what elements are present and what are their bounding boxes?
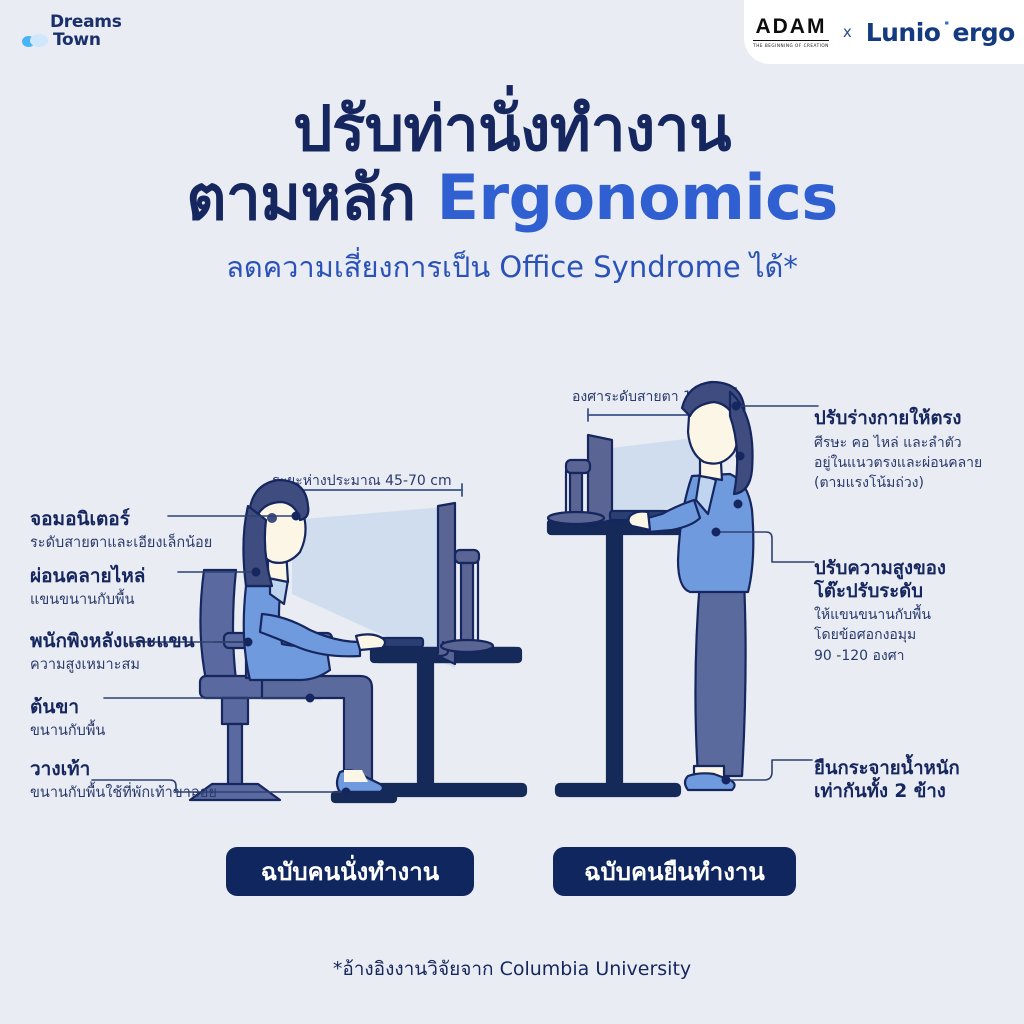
title-line-2-prefix: ตามหลัก — [186, 161, 436, 234]
desk-seated — [366, 648, 526, 796]
label-desk-height-desc: ให้แขนขนานกับพื้น โดยข้อศอกงอมุม 90 -120… — [814, 605, 1019, 666]
standing-person — [628, 382, 753, 790]
label-desk-height-desc-line-2: โดยข้อศอกงอมุม — [814, 625, 1019, 645]
adam-tagline: THE BEGINNING OF CREATION — [753, 40, 829, 48]
label-desk-height-desc-line-3: 90 -120 องศา — [814, 646, 1019, 666]
footrest — [332, 792, 396, 802]
partner-separator-icon: x — [843, 23, 852, 41]
label-monitor-title: จอมอนิเตอร์ — [30, 508, 212, 531]
standing-scene — [548, 382, 753, 796]
title-subtitle: ลดความเสี่ยงการเป็น Office Syndrome ได้* — [0, 244, 1024, 290]
label-feet-title: วางเท้า — [30, 758, 217, 781]
label-backrest-desc: ความสูงเหมาะสม — [30, 655, 195, 676]
footnote-reference: *อ้างอิงงานวิจัยจาก Columbia University — [0, 954, 1024, 984]
label-body-desc-line-1: ศีรษะ คอ ไหล่ และลำตัว — [814, 433, 1014, 453]
lunio-ergo-logo: Lunio˙ergo — [866, 20, 1015, 45]
pill-sitting-version[interactable]: ฉบับคนนั่งทำงาน — [226, 847, 474, 896]
label-weight-title: ยืนกระจายน้ำหนัก เท่ากันทั้ง 2 ข้าง — [814, 758, 1019, 803]
page-title: ปรับท่านั่งทำงาน ตามหลัก Ergonomics ลดคว… — [0, 96, 1024, 290]
dreams-town-logo: Dreams Town — [22, 14, 152, 50]
monitor-standing — [548, 435, 612, 526]
lunio-wordmark: Lunio — [866, 18, 941, 47]
lunio-dot-icon: ˙ — [940, 18, 952, 47]
title-line-2: ตามหลัก Ergonomics — [0, 163, 1024, 232]
label-body-desc-line-3: (ตามแรงโน้มถ่วง) — [814, 473, 1014, 493]
label-desk-height: ปรับความสูงของ โต๊ะปรับระดับ ให้แขนขนานก… — [814, 558, 1019, 666]
standing-desk — [548, 520, 696, 796]
label-monitor-desc: ระดับสายตาและเอียงเล็กน้อย — [30, 533, 212, 554]
label-desk-height-title-line-2: โต๊ะปรับระดับ — [814, 581, 1019, 604]
ergo-wordmark: ergo — [952, 18, 1014, 47]
label-monitor: จอมอนิเตอร์ ระดับสายตาและเอียงเล็กน้อย — [30, 508, 212, 554]
adam-wordmark: ADAM — [755, 16, 826, 37]
label-feet-desc: ขนานกับพื้นใช้ที่พักเท้าขาลอย — [30, 783, 217, 804]
adam-logo: ADAM THE BEGINNING OF CREATION — [753, 16, 829, 48]
label-body-alignment: ปรับร่างกายให้ตรง ศีรษะ คอ ไหล่ และลำตัว… — [814, 408, 1014, 493]
seated-scene — [190, 480, 526, 802]
cloud-icon — [22, 34, 48, 47]
dreams-town-line2: Town — [53, 32, 101, 50]
label-desk-height-title-line-1: ปรับความสูงของ — [814, 558, 1019, 581]
pill-standing-version[interactable]: ฉบับคนยืนทำงาน — [553, 847, 796, 896]
infographic-canvas: Dreams Town ADAM THE BEGINNING OF CREATI… — [0, 0, 1024, 1024]
label-thigh-title: ต้นขา — [30, 696, 105, 719]
label-body-desc: ศีรษะ คอ ไหล่ และลำตัว อยู่ในแนวตรงและผ่… — [814, 433, 1014, 494]
label-shoulder-title: ผ่อนคลายไหล่ — [30, 565, 145, 588]
label-desk-height-title: ปรับความสูงของ โต๊ะปรับระดับ — [814, 558, 1019, 603]
label-shoulder-desc: แขนขนานกับพื้น — [30, 590, 145, 611]
monitor-seated — [438, 503, 493, 664]
label-weight-distribution: ยืนกระจายน้ำหนัก เท่ากันทั้ง 2 ข้าง — [814, 758, 1019, 803]
label-body-desc-line-2: อยู่ในแนวตรงและผ่อนคลาย — [814, 453, 1014, 473]
label-desk-height-desc-line-1: ให้แขนขนานกับพื้น — [814, 605, 1019, 625]
label-backrest: พนักพิงหลังและแขน ความสูงเหมาะสม — [30, 630, 195, 676]
label-thigh: ต้นขา ขนานกับพื้น — [30, 696, 105, 742]
label-body-title: ปรับร่างกายให้ตรง — [814, 408, 1014, 431]
label-thigh-desc: ขนานกับพื้น — [30, 721, 105, 742]
title-line-1: ปรับท่านั่งทำงาน — [0, 96, 1024, 163]
label-weight-title-line-1: ยืนกระจายน้ำหนัก — [814, 758, 1019, 781]
title-accent-ergonomics: Ergonomics — [437, 161, 838, 234]
label-backrest-title: พนักพิงหลังและแขน — [30, 630, 195, 653]
distance-measure-bar — [292, 484, 462, 496]
partner-logo-card: ADAM THE BEGINNING OF CREATION x Lunio˙e… — [744, 0, 1024, 64]
label-weight-title-line-2: เท่ากันทั้ง 2 ข้าง — [814, 781, 1019, 804]
label-shoulder: ผ่อนคลายไหล่ แขนขนานกับพื้น — [30, 565, 145, 611]
label-feet: วางเท้า ขนานกับพื้นใช้ที่พักเท้าขาลอย — [30, 758, 217, 804]
